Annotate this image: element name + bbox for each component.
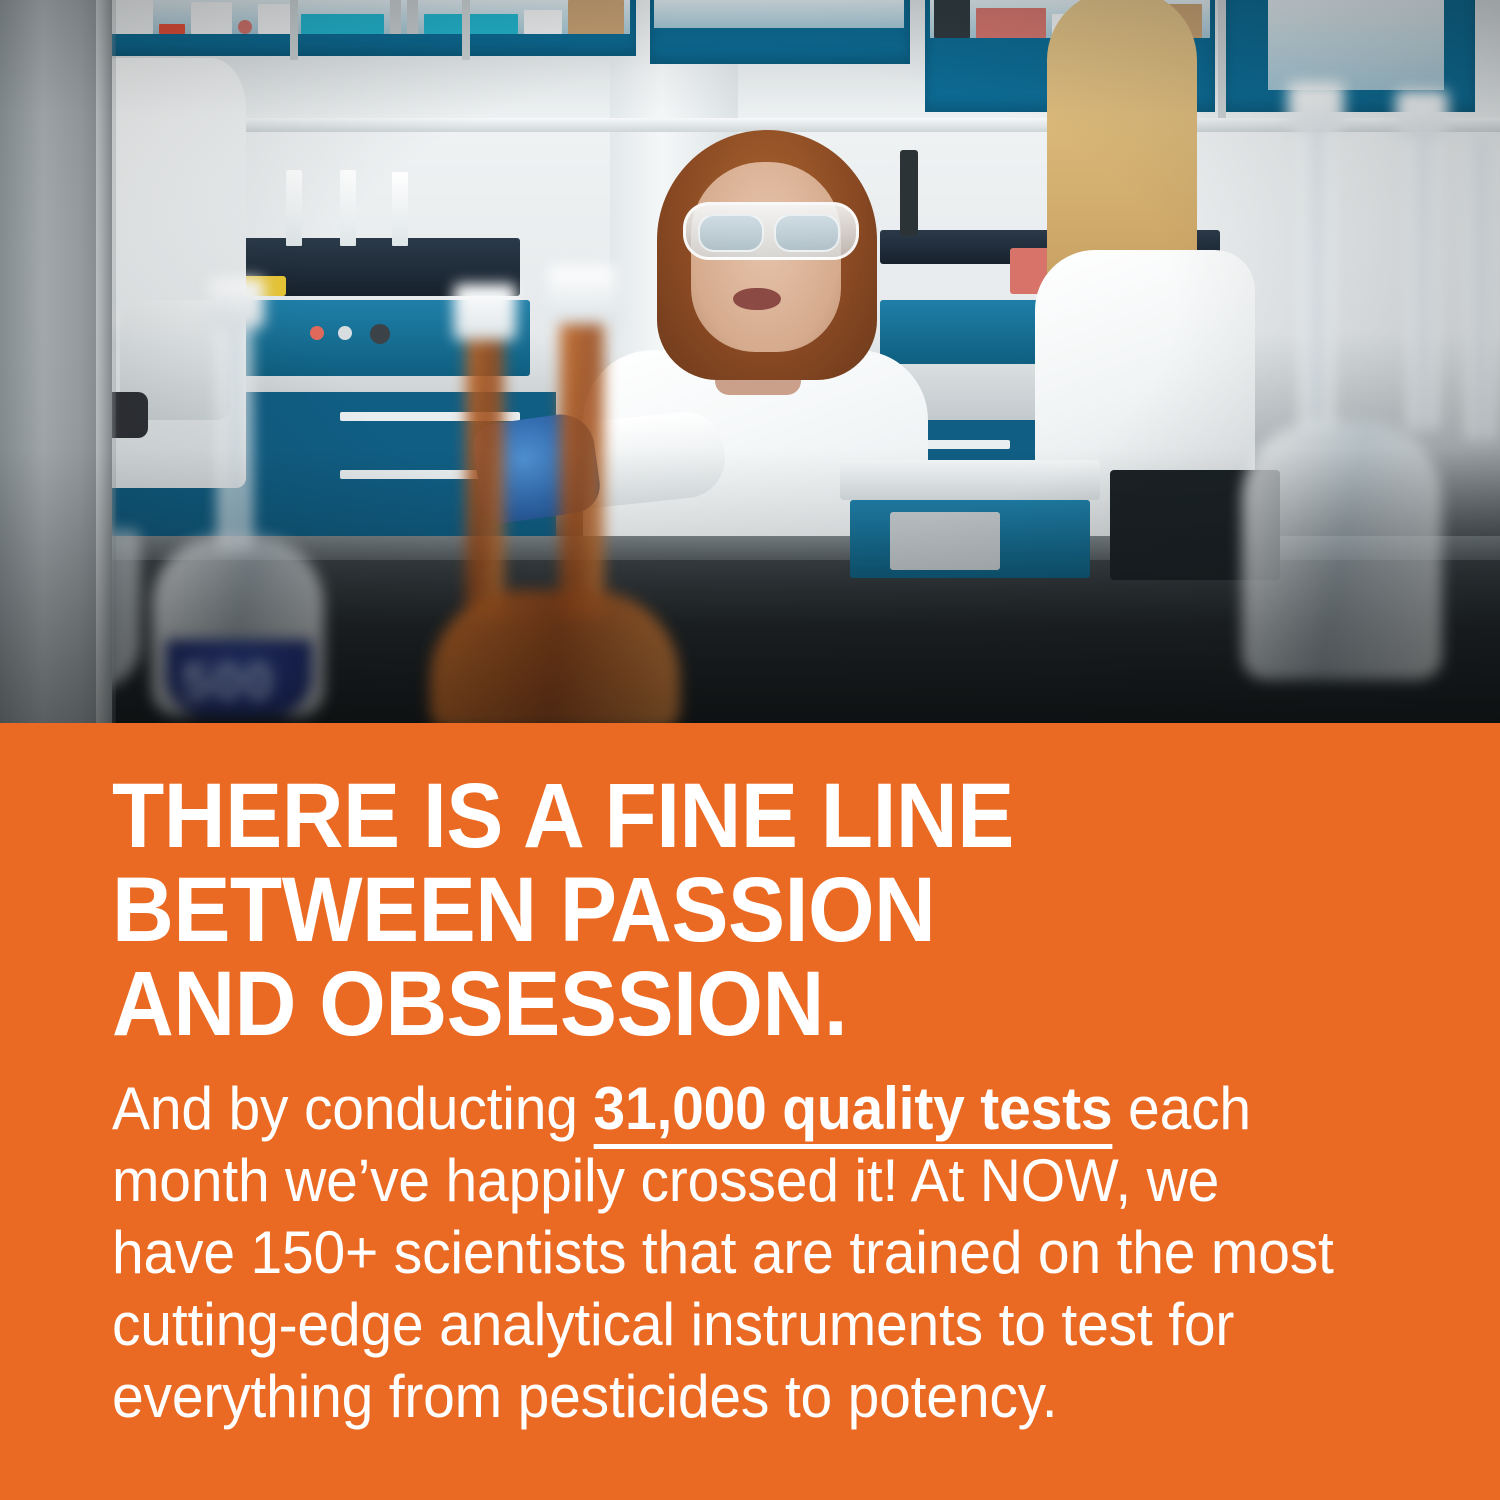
orange-content-panel: THERE IS A FINE LINE BETWEEN PASSION AND… <box>0 723 1500 1500</box>
flask-neck <box>1466 140 1496 440</box>
cabinet-glass-far-right <box>1268 0 1444 90</box>
flask-stopper <box>548 266 616 324</box>
goggle-lens-left <box>698 214 764 252</box>
shelf-item <box>934 0 970 38</box>
amber-flask-body <box>430 590 680 723</box>
safety-goggles <box>683 202 859 260</box>
shelf-item <box>407 0 418 34</box>
flask-volume-label: 500 <box>182 652 275 712</box>
foreground-glassware-right <box>1230 100 1500 720</box>
shelf-item <box>301 14 384 34</box>
body-text-before: And by conducting <box>112 1075 593 1142</box>
test-tube <box>340 170 356 246</box>
shelf-contents-left <box>104 0 624 34</box>
test-tube <box>286 170 302 246</box>
instrument-tray <box>840 460 1100 500</box>
cabinet-divider <box>290 0 298 60</box>
body-paragraph: And by conducting 31,000 quality tests e… <box>112 1073 1357 1433</box>
amber-flask-neck <box>466 318 504 618</box>
shelf-item <box>390 0 401 34</box>
flask-stopper <box>208 278 264 328</box>
flask-stopper <box>1396 90 1448 136</box>
emphasized-stat: 31,000 quality tests <box>593 1075 1112 1149</box>
amber-flask-neck <box>560 298 604 618</box>
flask-stopper <box>454 284 516 340</box>
cabinet-divider <box>462 0 470 60</box>
goggle-lens-right <box>774 214 840 252</box>
shelf-item <box>524 10 562 34</box>
instrument-screen <box>890 512 1000 570</box>
flask-stopper <box>1288 82 1344 130</box>
poster: 500 THER <box>0 0 1500 1500</box>
flask-neck <box>218 300 252 550</box>
shelf-item <box>238 20 251 34</box>
lab-photo: 500 <box>0 0 1500 723</box>
shelf-item <box>424 14 518 34</box>
flask-neck <box>1300 100 1334 430</box>
foreground-glassware-amber <box>430 290 720 720</box>
page-headline: THERE IS A FINE LINE BETWEEN PASSION AND… <box>112 769 1312 1051</box>
shelf-item <box>568 0 624 34</box>
flask-neck <box>1408 110 1438 430</box>
shelf-item <box>159 24 185 34</box>
cabinet-glass-mid <box>654 0 904 28</box>
pillar-edge <box>96 0 116 723</box>
mouth <box>733 288 781 310</box>
test-tube <box>392 172 408 246</box>
shelf-item <box>191 2 232 34</box>
flask-body <box>1242 420 1442 680</box>
lab-scene: 500 <box>0 0 1500 723</box>
